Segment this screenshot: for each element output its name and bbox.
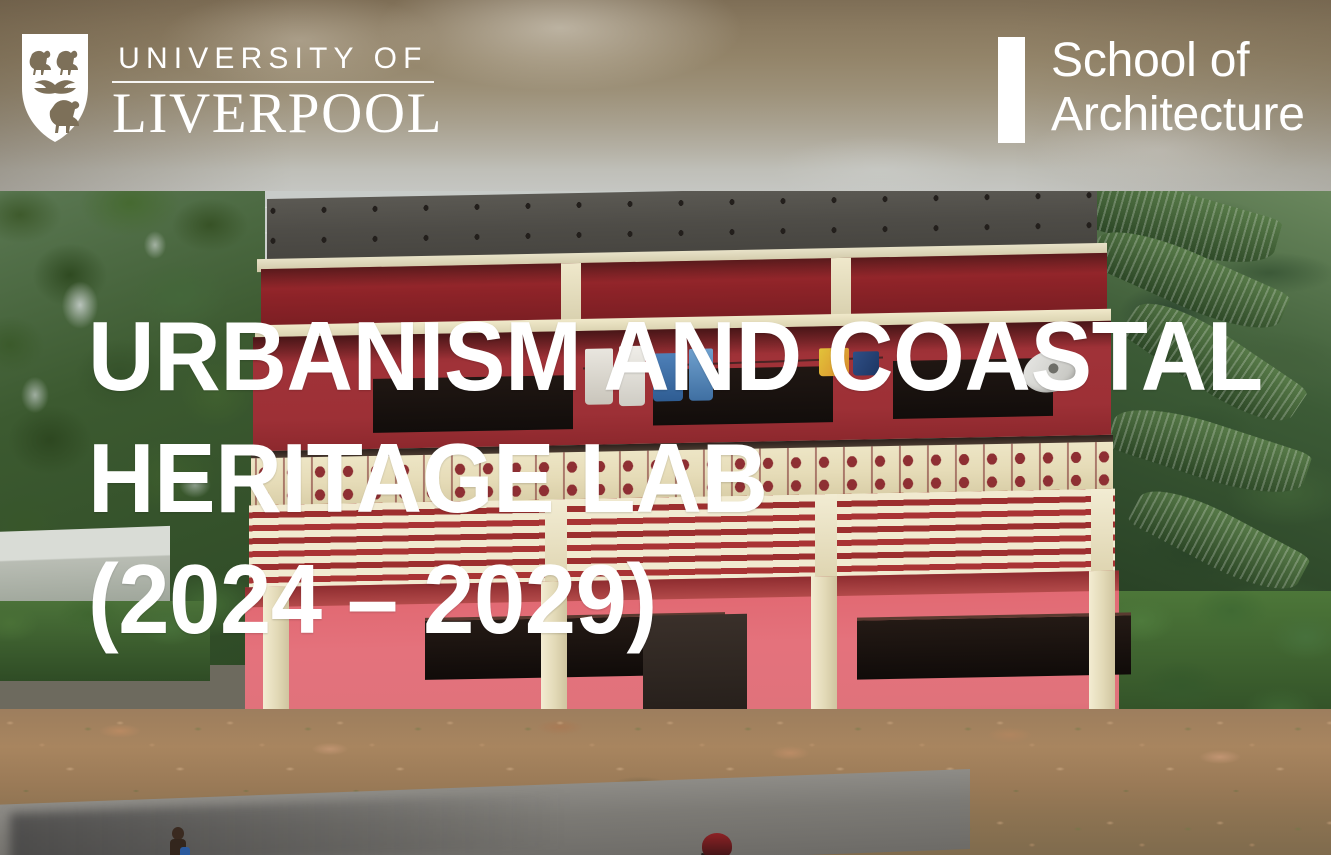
liverpool-shield-crest-icon: FIAT LUX bbox=[20, 32, 90, 144]
person-bag bbox=[180, 847, 190, 855]
school-logo-text: School of Architecture bbox=[1051, 34, 1305, 142]
vertical-bar-icon bbox=[998, 37, 1025, 143]
motorcycle bbox=[672, 831, 812, 855]
university-logo-line1: UNIVERSITY OF bbox=[112, 44, 443, 74]
title-line-1: URBANISM AND COASTAL bbox=[88, 296, 1263, 418]
title-line-3: (2024 – 2029) bbox=[88, 539, 1263, 661]
university-of-liverpool-logo[interactable]: FIAT LUX UNIVERSITY OF LIVERPOOL bbox=[20, 32, 443, 144]
poster-slide: FIAT LUX UNIVERSITY OF LIVERPOOL School … bbox=[0, 0, 1331, 855]
person-figure bbox=[168, 827, 188, 855]
university-logo-line2: LIVERPOOL bbox=[112, 85, 443, 143]
header-band: FIAT LUX UNIVERSITY OF LIVERPOOL School … bbox=[0, 0, 1331, 191]
university-logo-text: UNIVERSITY OF LIVERPOOL bbox=[112, 32, 443, 143]
svg-text:LUX: LUX bbox=[60, 88, 71, 93]
school-of-architecture-logo[interactable]: School of Architecture bbox=[998, 34, 1305, 143]
page-title: URBANISM AND COASTAL HERITAGE LAB (2024 … bbox=[88, 296, 1263, 661]
motorcycle-helmet bbox=[702, 833, 732, 855]
svg-text:FIAT: FIAT bbox=[46, 88, 57, 93]
school-logo-line2: Architecture bbox=[1051, 88, 1305, 142]
school-logo-line1: School of bbox=[1051, 34, 1305, 88]
title-line-2: HERITAGE LAB bbox=[88, 418, 1263, 540]
